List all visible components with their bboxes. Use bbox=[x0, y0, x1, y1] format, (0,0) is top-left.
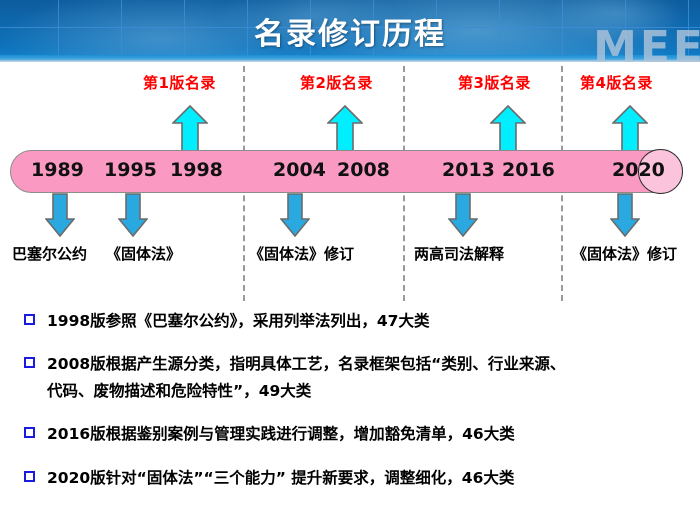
square-bullet-icon bbox=[24, 314, 35, 325]
timeline-year-1998: 1998 bbox=[170, 159, 223, 181]
bullet-text-2: 2008版根据产生源分类，指明具体工艺，名录框架包括“类别、行业来源、 代码、废… bbox=[47, 351, 565, 405]
down-arrow-icon-1 bbox=[45, 193, 75, 237]
down-arrow-icon-5 bbox=[610, 193, 640, 237]
bullet-list: 1998版参照《巴塞尔公约》，采用列举法列出，47大类 2008版根据产生源分类… bbox=[24, 308, 684, 508]
down-arrow-icon-3 bbox=[280, 193, 310, 237]
page-title: 名录修订历程 bbox=[0, 9, 700, 53]
up-arrow-icon-4 bbox=[612, 105, 648, 152]
timeline-caption-3: 《固体法》修订 bbox=[249, 243, 354, 264]
version-label-4: 第4版名录 bbox=[580, 72, 653, 93]
timeline-caption-5: 《固体法》修订 bbox=[572, 243, 677, 264]
timeline-year-2016: 2016 bbox=[502, 159, 555, 181]
bullet-text-1: 1998版参照《巴塞尔公约》，采用列举法列出，47大类 bbox=[47, 308, 429, 335]
timeline-year-2004: 2004 bbox=[273, 159, 326, 181]
timeline-year-2008: 2008 bbox=[337, 159, 390, 181]
bullet-line: 2016版根据鉴别案例与管理实践进行调整，增加豁免清单，46大类 bbox=[47, 421, 515, 448]
up-arrow-icon-3 bbox=[490, 105, 526, 152]
list-item: 2008版根据产生源分类，指明具体工艺，名录框架包括“类别、行业来源、 代码、废… bbox=[24, 351, 684, 405]
timeline-year-1989: 1989 bbox=[31, 159, 84, 181]
down-arrow-icon-2 bbox=[118, 193, 148, 237]
bullet-line: 2008版根据产生源分类，指明具体工艺，名录框架包括“类别、行业来源、 bbox=[47, 351, 565, 378]
timeline-year-2020: 2020 bbox=[612, 159, 665, 181]
timeline-caption-2: 《固体法》 bbox=[106, 243, 181, 264]
timeline-caption-1: 巴塞尔公约 bbox=[12, 243, 87, 264]
version-label-1: 第1版名录 bbox=[143, 72, 216, 93]
timeline-year-1995: 1995 bbox=[104, 159, 157, 181]
square-bullet-icon bbox=[24, 471, 35, 482]
version-label-2: 第2版名录 bbox=[300, 72, 373, 93]
up-arrow-icon-1 bbox=[172, 105, 208, 152]
bullet-line: 1998版参照《巴塞尔公约》，采用列举法列出，47大类 bbox=[47, 308, 429, 335]
up-arrow-icon-2 bbox=[327, 105, 363, 152]
square-bullet-icon bbox=[24, 357, 35, 368]
down-arrow-icon-4 bbox=[448, 193, 478, 237]
slide-root: MEE 名录修订历程 第1版名录 第2版名录 第3版名录 第4版名录 1989 … bbox=[0, 0, 700, 525]
timeline-year-2013: 2013 bbox=[442, 159, 495, 181]
bullet-line: 2020版针对“固体法”“三个能力” 提升新要求，调整细化，46大类 bbox=[47, 465, 514, 492]
bullet-text-3: 2016版根据鉴别案例与管理实践进行调整，增加豁免清单，46大类 bbox=[47, 421, 515, 448]
list-item: 2020版针对“固体法”“三个能力” 提升新要求，调整细化，46大类 bbox=[24, 465, 684, 492]
version-label-3: 第3版名录 bbox=[458, 72, 531, 93]
timeline-caption-4: 两高司法解释 bbox=[414, 243, 504, 264]
bullet-line: 代码、废物描述和危险特性”，49大类 bbox=[47, 378, 565, 405]
bullet-text-4: 2020版针对“固体法”“三个能力” 提升新要求，调整细化，46大类 bbox=[47, 465, 514, 492]
list-item: 1998版参照《巴塞尔公约》，采用列举法列出，47大类 bbox=[24, 308, 684, 335]
square-bullet-icon bbox=[24, 427, 35, 438]
list-item: 2016版根据鉴别案例与管理实践进行调整，增加豁免清单，46大类 bbox=[24, 421, 684, 448]
